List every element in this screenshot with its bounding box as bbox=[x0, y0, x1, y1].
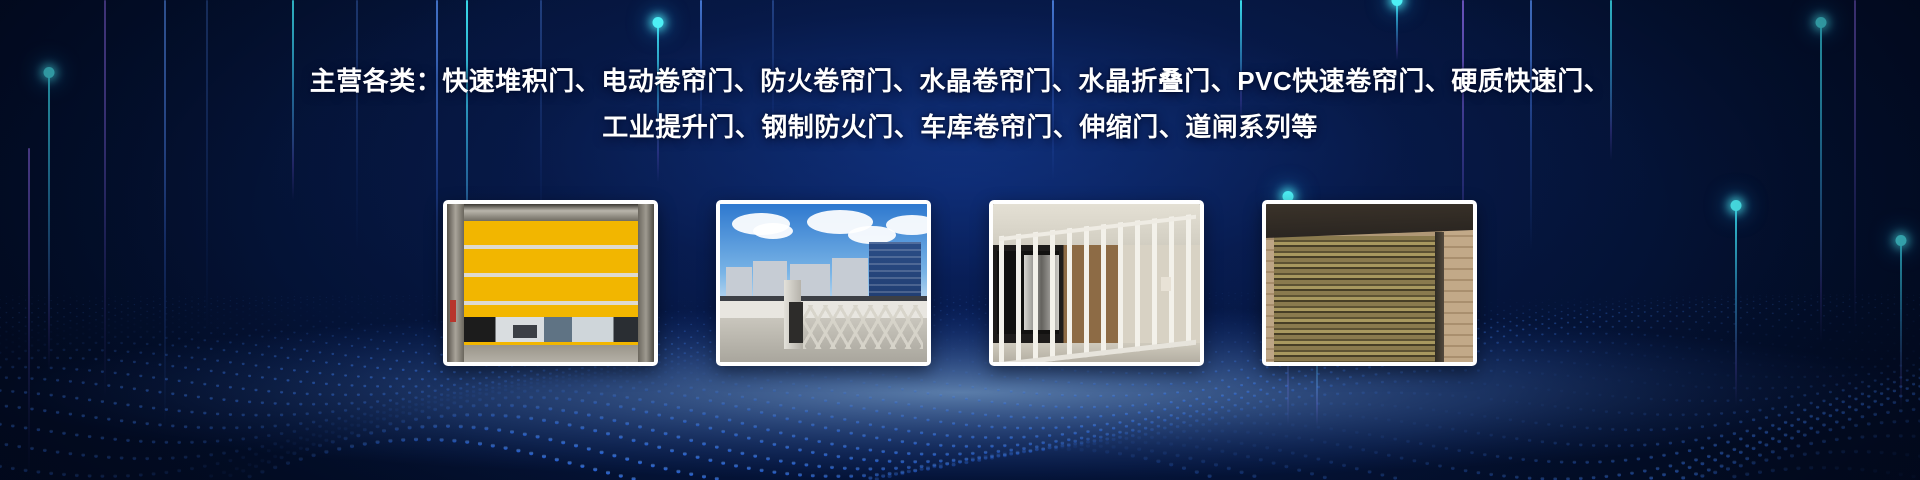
product-photo-4-roller-shutter-door[interactable] bbox=[1262, 200, 1477, 366]
product-photo-gallery bbox=[0, 200, 1920, 366]
page-title: 主营各类：快速堆积门、电动卷帘门、防火卷帘门、水晶卷帘门、水晶折叠门、PVC快速… bbox=[0, 58, 1920, 150]
beam-cap-icon bbox=[1392, 0, 1403, 6]
beam-icon bbox=[1396, 0, 1398, 60]
headline-line-1: 主营各类：快速堆积门、电动卷帘门、防火卷帘门、水晶卷帘门、水晶折叠门、PVC快速… bbox=[0, 58, 1920, 104]
product-photo-3-crystal-folding-door[interactable] bbox=[989, 200, 1204, 366]
product-photo-2-retractable-gate[interactable] bbox=[716, 200, 931, 366]
promo-banner: 主营各类：快速堆积门、电动卷帘门、防火卷帘门、水晶卷帘门、水晶折叠门、PVC快速… bbox=[0, 0, 1920, 480]
crystal-folding-door-photo bbox=[993, 204, 1200, 362]
roller-shutter-door-photo bbox=[1266, 204, 1473, 362]
beam-cap-icon bbox=[1816, 17, 1827, 28]
beam-cap-icon bbox=[653, 17, 664, 28]
fast-stacking-door-photo bbox=[447, 204, 654, 362]
headline-line-2: 工业提升门、钢制防火门、车库卷帘门、伸缩门、道闸系列等 bbox=[0, 104, 1920, 150]
retractable-gate-photo bbox=[720, 204, 927, 362]
product-photo-1-fast-stacking-door[interactable] bbox=[443, 200, 658, 366]
